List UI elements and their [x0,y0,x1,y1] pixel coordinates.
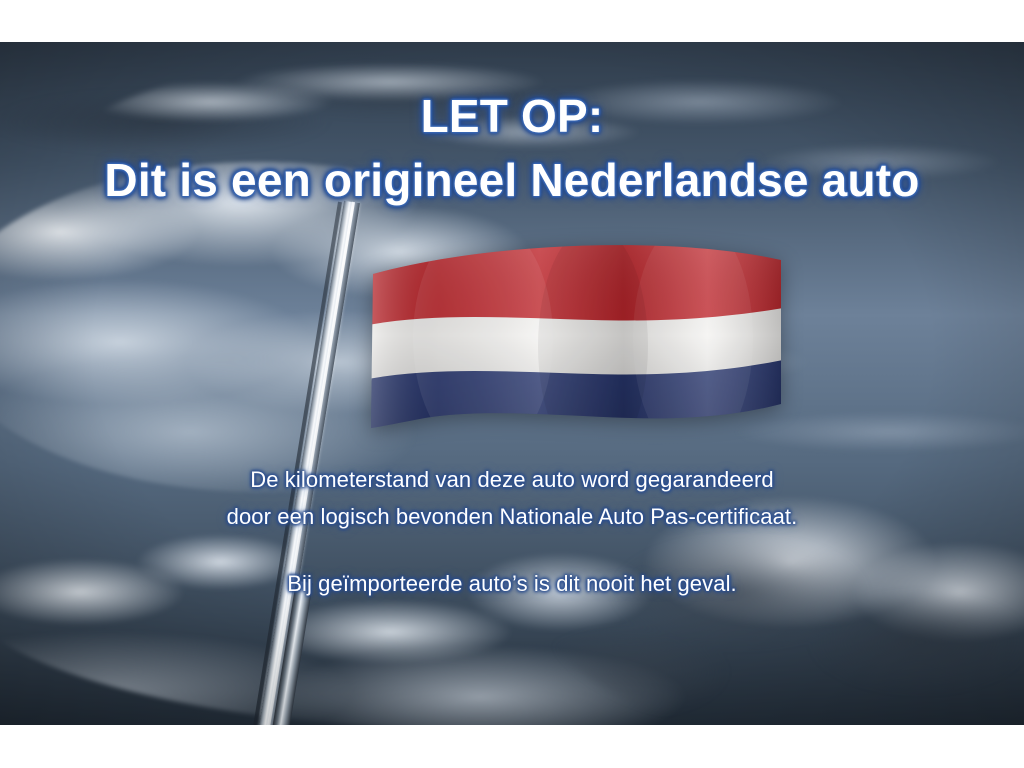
slide-canvas: LET OP: Dit is een origineel Nederlandse… [0,0,1024,768]
vignette-overlay [0,42,1024,725]
sky-photo [0,42,1024,725]
